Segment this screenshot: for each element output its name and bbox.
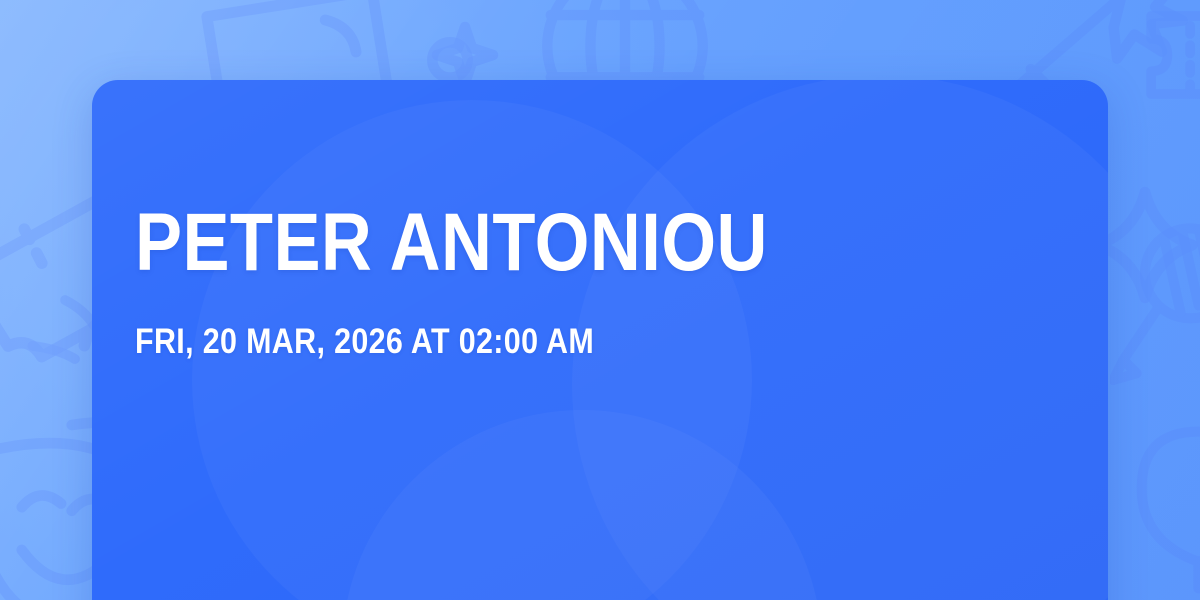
card-decor-circle-bottom bbox=[342, 410, 822, 600]
event-datetime: Fri, 20 Mar, 2026 at 02:00 AM bbox=[135, 324, 947, 359]
event-title: Peter Antoniou bbox=[135, 205, 937, 280]
event-banner: Peter Antoniou Fri, 20 Mar, 2026 at 02:0… bbox=[0, 0, 1200, 600]
event-card: Peter Antoniou Fri, 20 Mar, 2026 at 02:0… bbox=[92, 80, 1108, 600]
card-content: Peter Antoniou Fri, 20 Mar, 2026 at 02:0… bbox=[135, 205, 1068, 359]
